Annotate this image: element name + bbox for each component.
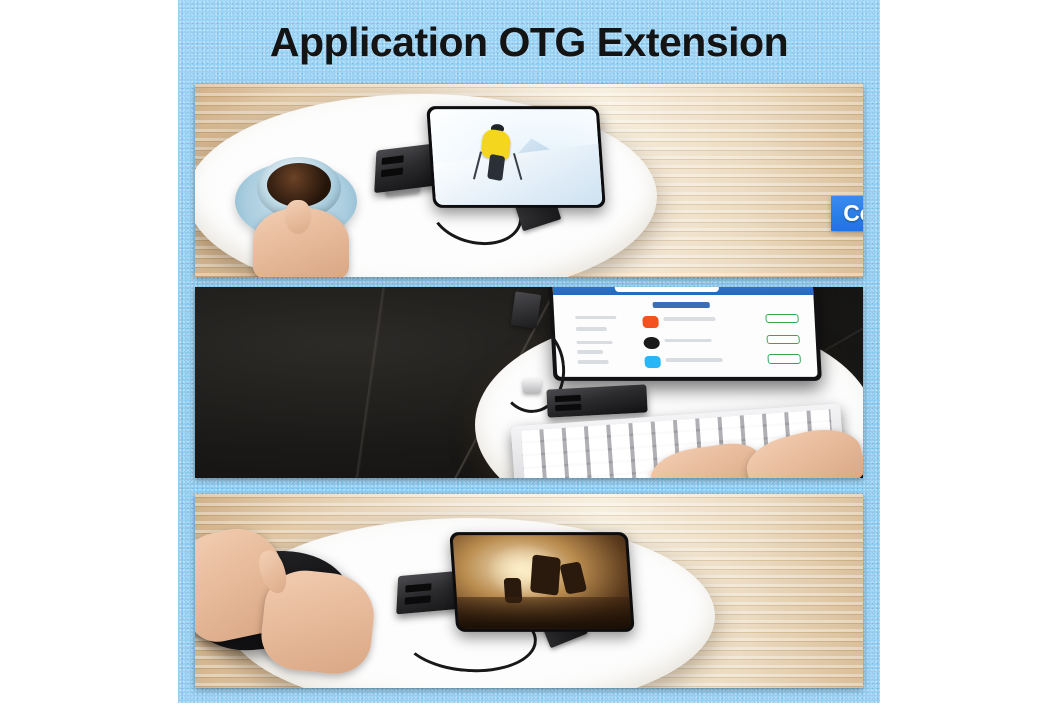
thumb [285, 200, 311, 234]
caption-heading: Connect U disk [831, 196, 863, 231]
phone-screen-game [453, 535, 632, 629]
panel-connect-u-disk: Connect U disk No network required to wa… [195, 84, 863, 277]
panel-tablet-becomes-a-computer: Tablet becomes a computer Simplify work … [195, 287, 863, 478]
caption-body: No network required to watch movies anyw… [793, 245, 863, 277]
product-infographic: Application OTG Extension [0, 0, 1058, 705]
tablet-screen-app-store [552, 287, 817, 377]
tablet [548, 287, 822, 381]
phone-screen-ski-video [429, 109, 602, 205]
usb-flash-drive [523, 379, 541, 393]
panel-play-games-on-smartphone: Play games on smartphone Enjoy happy hou… [195, 494, 863, 688]
usb-hub [546, 384, 647, 417]
smartphone [449, 532, 634, 632]
caption-connect-u-disk: Connect U disk No network required to wa… [793, 196, 863, 277]
page-title: Application OTG Extension [178, 20, 880, 64]
smartphone [426, 106, 606, 208]
